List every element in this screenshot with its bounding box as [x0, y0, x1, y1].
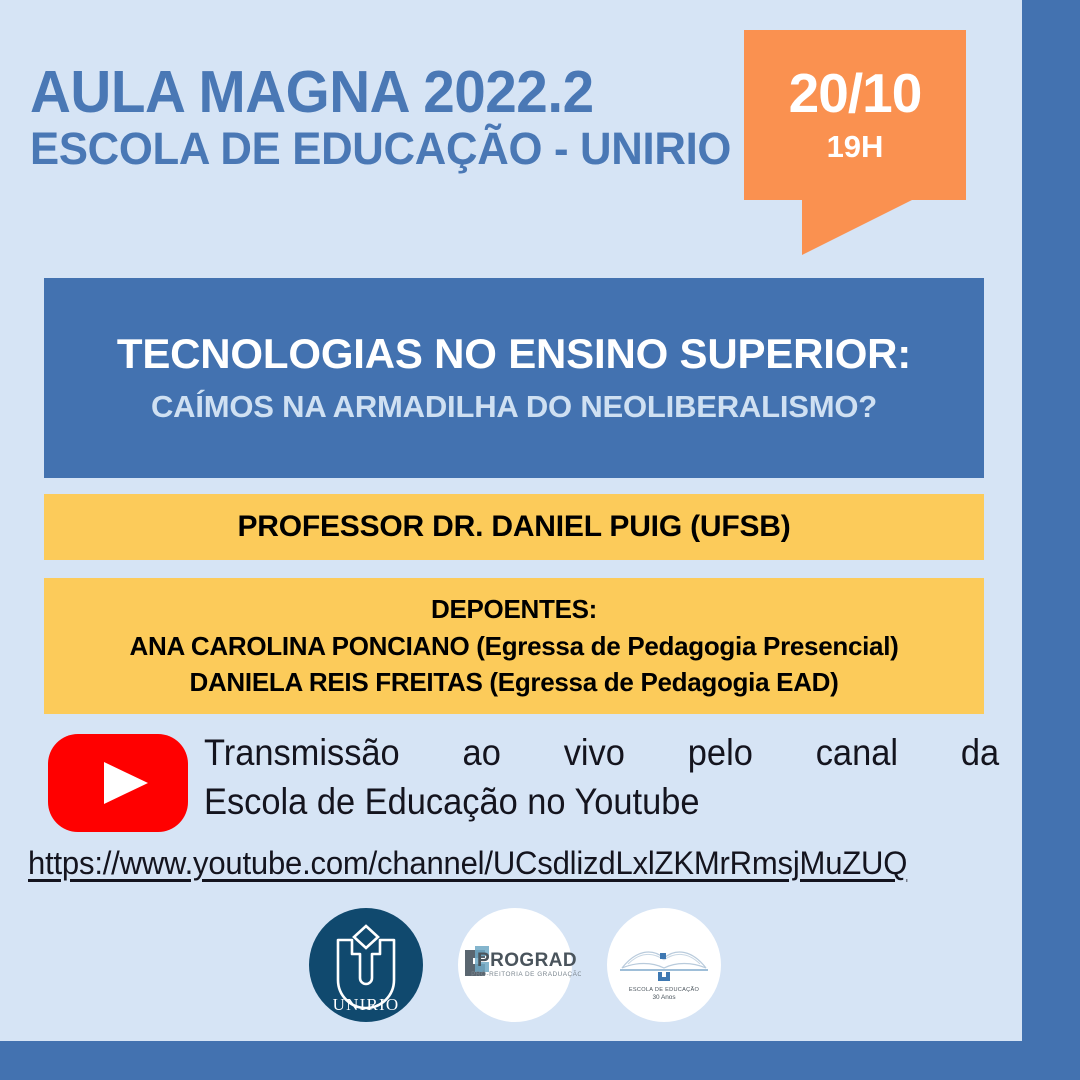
title-banner: TECNOLOGIAS NO ENSINO SUPERIOR: CAÍMOS N… [44, 278, 984, 478]
broadcast-word-1: ao [463, 728, 501, 777]
broadcast-word-2: vivo [564, 728, 625, 777]
svg-text:30 Anos: 30 Anos [652, 994, 675, 1001]
broadcast-line-1: Transmissão ao vivo pelo canal da [204, 728, 999, 777]
logo-row: UNIRIO PROGRAD PRÓ-REITORIA DE GRADUAÇÃO [300, 905, 730, 1025]
broadcast-word-4: canal [816, 728, 898, 777]
svg-text:PRÓ-REITORIA DE GRADUAÇÃO: PRÓ-REITORIA DE GRADUAÇÃO [471, 969, 581, 978]
broadcast-row: Transmissão ao vivo pelo canal da Escola… [48, 728, 1008, 832]
svg-text:UNIRIO: UNIRIO [333, 995, 400, 1014]
right-accent-bar [1022, 0, 1080, 1041]
header-title-line1: AULA MAGNA 2022.2 [30, 62, 702, 122]
guest-name-1: ANA CAROLINA PONCIANO (Egressa de Pedago… [130, 628, 899, 665]
speaker-name: PROFESSOR DR. DANIEL PUIG (UFSB) [237, 510, 790, 544]
header-title-line2: ESCOLA DE EDUCAÇÃO - UNIRIO [30, 122, 709, 175]
lecture-title: TECNOLOGIAS NO ENSINO SUPERIOR: [117, 331, 911, 377]
speaker-band: PROFESSOR DR. DANIEL PUIG (UFSB) [44, 494, 984, 560]
bottom-accent-bar [0, 1041, 1080, 1080]
poster-header: AULA MAGNA 2022.2 ESCOLA DE EDUCAÇÃO - U… [30, 62, 730, 175]
broadcast-text: Transmissão ao vivo pelo canal da Escola… [204, 728, 1059, 826]
escola-educacao-logo: ESCOLA DE EDUCAÇÃO 30 Anos [598, 906, 730, 1024]
broadcast-line-2: Escola de Educação no Youtube [204, 777, 999, 826]
guest-name-2: DANIELA REIS FREITAS (Egressa de Pedagog… [189, 664, 838, 701]
guests-band: DEPOENTES: ANA CAROLINA PONCIANO (Egress… [44, 578, 984, 714]
unirio-logo: UNIRIO [300, 906, 432, 1024]
prograd-logo: PROGRAD PRÓ-REITORIA DE GRADUAÇÃO [449, 906, 581, 1024]
lecture-subtitle: CAÍMOS NA ARMADILHA DO NEOLIBERALISMO? [151, 389, 877, 425]
youtube-play-icon[interactable] [48, 734, 188, 832]
guests-heading: DEPOENTES: [431, 591, 597, 628]
youtube-channel-url[interactable]: https://www.youtube.com/channel/UCsdlizd… [28, 845, 979, 882]
broadcast-word-0: Transmissão [204, 728, 400, 777]
poster-canvas: AULA MAGNA 2022.2 ESCOLA DE EDUCAÇÃO - U… [0, 0, 1022, 1041]
svg-text:ESCOLA DE EDUCAÇÃO: ESCOLA DE EDUCAÇÃO [629, 986, 700, 993]
svg-text:PROGRAD: PROGRAD [477, 950, 577, 971]
broadcast-word-3: pelo [688, 728, 753, 777]
date-speech-bubble: 20/10 19H [744, 30, 966, 255]
speech-bubble-shape [744, 30, 966, 255]
broadcast-word-5: da [961, 728, 999, 777]
